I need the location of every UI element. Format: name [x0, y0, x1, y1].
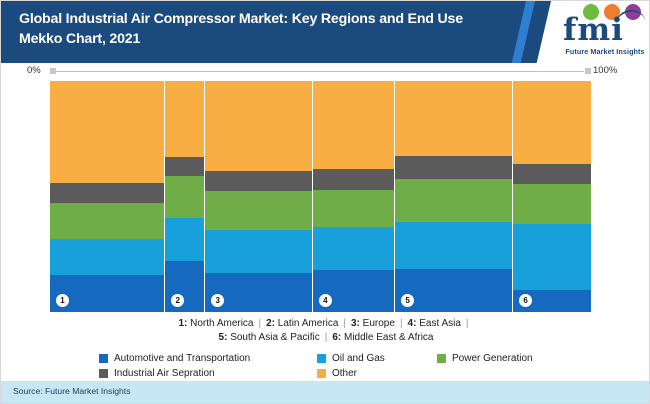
source-footer: Source: Future Market Insights: [1, 381, 650, 403]
region-legend-item: 3: Europe: [351, 318, 395, 329]
mekko-segment[interactable]: [165, 81, 204, 157]
series-legend: Automotive and TransportationOil and Gas…: [99, 351, 569, 383]
region-legend-separator: |: [320, 332, 333, 343]
logo-wordmark: fmi: [563, 14, 647, 46]
mekko-segment[interactable]: [205, 230, 312, 273]
region-legend-item: 1: North America: [178, 318, 253, 329]
mekko-segment[interactable]: [165, 261, 204, 312]
mekko-segment[interactable]: [205, 273, 312, 312]
region-number: 6:: [332, 332, 341, 343]
column-number-badge: 4: [319, 294, 332, 307]
legend-item[interactable]: Other: [317, 366, 437, 381]
region-legend-item: 5: South Asia & Pacific: [219, 332, 320, 343]
legend-swatch-icon: [317, 369, 326, 378]
mekko-segment[interactable]: [50, 239, 164, 275]
region-legend-item: 6: Middle East & Africa: [332, 332, 433, 343]
mekko-segment[interactable]: [513, 224, 591, 290]
region-legend-separator: |: [461, 318, 474, 329]
legend-item[interactable]: Industrial Air Sepration: [99, 366, 317, 381]
region-legend-separator: |: [254, 318, 267, 329]
mekko-segment[interactable]: [165, 176, 204, 219]
legend-item[interactable]: Automotive and Transportation: [99, 351, 317, 366]
chart-page: Global Industrial Air Compressor Market:…: [0, 0, 650, 404]
mekko-segment[interactable]: [313, 81, 394, 169]
mekko-column[interactable]: 3: [205, 81, 313, 312]
page-title-line-1: Global Industrial Air Compressor Market:…: [19, 11, 463, 27]
mekko-column[interactable]: 1: [50, 81, 165, 312]
mekko-segment[interactable]: [513, 81, 591, 164]
legend-swatch-icon: [437, 354, 446, 363]
mekko-segment[interactable]: [395, 179, 512, 222]
mekko-segment[interactable]: [513, 184, 591, 224]
region-legend-separator: |: [338, 318, 351, 329]
mekko-segment[interactable]: [50, 275, 164, 312]
legend-label: Power Generation: [452, 353, 533, 364]
source-text: Source: Future Market Insights: [13, 386, 131, 396]
mekko-segment[interactable]: [50, 183, 164, 204]
region-name: Middle East & Africa: [341, 332, 433, 343]
title-bar: Global Industrial Air Compressor Market:…: [1, 1, 650, 63]
mekko-plot: 123456: [50, 81, 591, 312]
mekko-segment[interactable]: [313, 169, 394, 190]
legend-swatch-icon: [317, 354, 326, 363]
region-legend-line-1: 1: North America|2: Latin America|3: Eur…: [1, 317, 650, 331]
region-legend-separator: |: [395, 318, 408, 329]
mekko-segment[interactable]: [395, 269, 512, 312]
region-number: 2:: [266, 318, 275, 329]
mekko-segment[interactable]: [50, 203, 164, 239]
legend-label: Oil and Gas: [332, 353, 385, 364]
percent-axis: 0% 100%: [1, 65, 650, 79]
legend-swatch-icon: [99, 369, 108, 378]
legend-item[interactable]: Power Generation: [437, 351, 569, 366]
column-number-badge: 1: [56, 294, 69, 307]
mekko-segment[interactable]: [313, 227, 394, 271]
mekko-column[interactable]: 2: [165, 81, 205, 312]
mekko-segment[interactable]: [165, 157, 204, 175]
region-legend-item: 2: Latin America: [266, 318, 338, 329]
mekko-column[interactable]: 6: [513, 81, 591, 312]
axis-cap-right-icon: [585, 68, 591, 74]
axis-label-max: 100%: [593, 65, 617, 77]
logo-tagline: Future Market Insights: [561, 47, 649, 56]
legend-label: Automotive and Transportation: [114, 353, 250, 364]
mekko-segment[interactable]: [205, 171, 312, 191]
mekko-segment[interactable]: [313, 190, 394, 227]
page-title: Global Industrial Air Compressor Market:…: [19, 9, 519, 49]
axis-line: [56, 71, 584, 72]
mekko-segment[interactable]: [165, 218, 204, 261]
region-legend: 1: North America|2: Latin America|3: Eur…: [1, 317, 650, 345]
mekko-segment[interactable]: [395, 156, 512, 179]
region-name: South Asia & Pacific: [227, 332, 319, 343]
fmi-logo: fmi Future Market Insights: [557, 4, 647, 60]
mekko-column[interactable]: 5: [395, 81, 513, 312]
region-name: East Asia: [416, 318, 460, 329]
legend-label: Other: [332, 368, 357, 379]
region-number: 3:: [351, 318, 360, 329]
mekko-segment[interactable]: [205, 81, 312, 171]
region-name: Latin America: [275, 318, 338, 329]
mekko-segment[interactable]: [513, 164, 591, 184]
mekko-segment[interactable]: [395, 222, 512, 269]
legend-swatch-icon: [99, 354, 108, 363]
mekko-column[interactable]: 4: [313, 81, 395, 312]
mekko-segment[interactable]: [395, 81, 512, 156]
mekko-segment[interactable]: [50, 81, 164, 183]
region-name: Europe: [360, 318, 395, 329]
axis-label-min: 0%: [27, 65, 41, 77]
column-number-badge: 6: [519, 294, 532, 307]
region-legend-line-2: 5: South Asia & Pacific|6: Middle East &…: [1, 331, 650, 345]
page-title-line-2: Mekko Chart, 2021: [19, 29, 519, 49]
region-name: North America: [187, 318, 253, 329]
legend-label: Industrial Air Sepration: [114, 368, 215, 379]
mekko-segment[interactable]: [205, 191, 312, 230]
legend-item[interactable]: Oil and Gas: [317, 351, 437, 366]
region-legend-item: 4: East Asia: [408, 318, 461, 329]
